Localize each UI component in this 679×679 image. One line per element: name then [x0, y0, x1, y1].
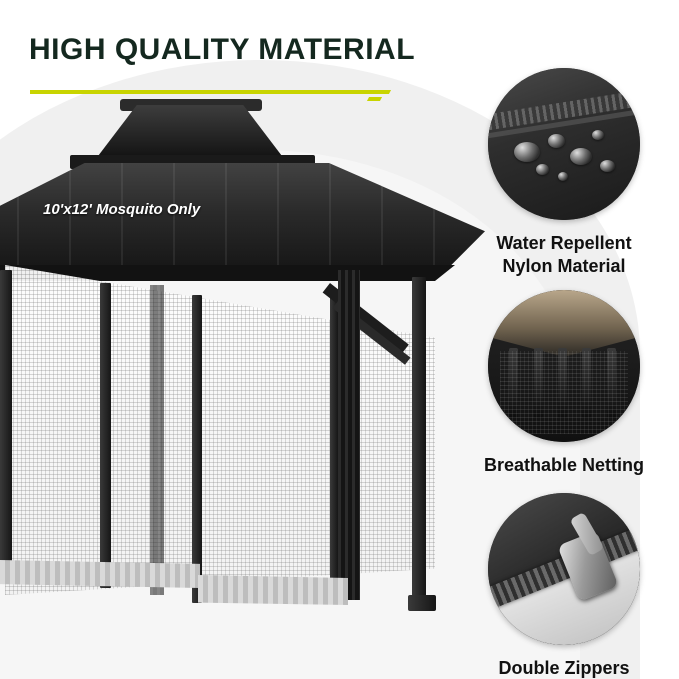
- curtain-strip-right: [338, 270, 360, 600]
- title-underline-accent-2: [367, 97, 382, 101]
- feature-water-repellent: Water Repellent Nylon Material: [420, 68, 670, 277]
- gazebo-product-image: 10'x12' Mosquito Only: [0, 105, 470, 635]
- feature-caption-line1: Breathable Netting: [446, 454, 679, 477]
- title-underline: [30, 90, 384, 94]
- mesh-bottom-skirt-left: [0, 560, 200, 588]
- frame-post-mid-left: [100, 283, 111, 588]
- frame-post-center: [192, 295, 202, 603]
- feature-caption-line1: Water Repellent: [464, 232, 664, 255]
- curtain-strip-center: [150, 285, 164, 595]
- title-underline-accent-1: [371, 90, 391, 94]
- frame-post-mid-right: [330, 293, 338, 593]
- page-title: HIGH QUALITY MATERIAL: [29, 33, 415, 67]
- product-feature-banner: HIGH QUALITY MATERIAL 10'x12' Mosquito O…: [0, 0, 679, 679]
- water-droplets-on-fabric-photo: [488, 68, 640, 220]
- feature-caption-breathable-netting: Breathable Netting: [446, 454, 679, 477]
- netting-interior-photo: [488, 290, 640, 442]
- roof-upper-tier: [95, 105, 285, 160]
- feature-caption-line1: Double Zippers: [456, 657, 672, 679]
- frame-post-left: [0, 270, 12, 570]
- feature-double-zippers: Double Zippers: [420, 493, 670, 679]
- feature-caption-double-zippers: Double Zippers: [456, 657, 672, 679]
- zipper-closeup-photo: [488, 493, 640, 645]
- product-size-label: 10'x12' Mosquito Only: [33, 197, 210, 222]
- feature-caption-water-repellent: Water Repellent Nylon Material: [464, 232, 664, 277]
- mesh-bottom-skirt-right: [198, 575, 348, 605]
- feature-breathable-netting: Breathable Netting: [420, 290, 670, 477]
- feature-caption-line2: Nylon Material: [464, 255, 664, 278]
